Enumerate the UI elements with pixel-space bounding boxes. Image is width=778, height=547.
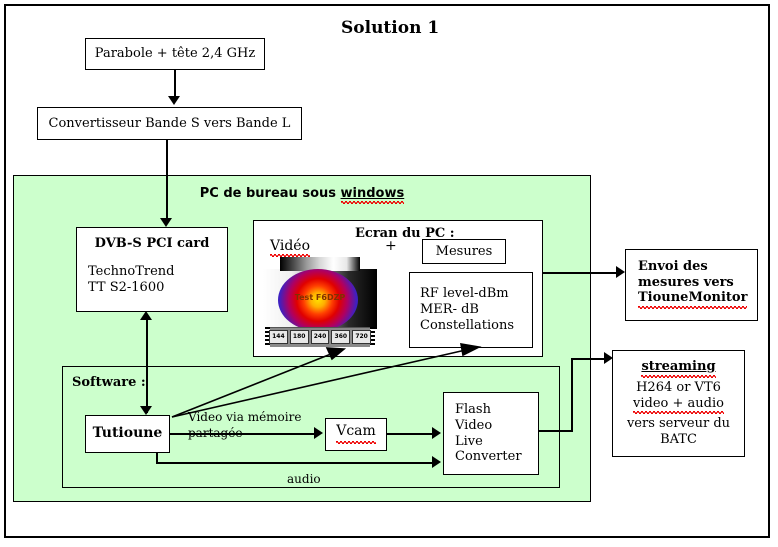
edge-label-video-memoire-1: Video via mémoire	[188, 410, 301, 424]
edge-label-audio: audio	[287, 472, 321, 486]
envoi-line2: mesures vers	[638, 275, 734, 291]
node-mesures[interactable]: Mesures	[422, 239, 506, 264]
envoi-line1: Envoi des	[638, 259, 708, 275]
arrowhead-dvbs-up	[140, 311, 152, 320]
connector-vcam-flash	[387, 433, 434, 435]
measurement-item-2: Constellations	[420, 318, 514, 334]
connector-flash-streaming-v	[571, 358, 573, 432]
test-pattern-resolution-cells: 144 180 240 360 720	[269, 330, 371, 344]
node-dvbs-pci-card[interactable]: DVB-S PCI card TechnoTrend TT S2-1600	[76, 227, 228, 312]
connector-convertisseur-dvbs	[166, 140, 168, 221]
pc-panel-title-text: PC de bureau sous	[200, 186, 341, 201]
resolution-cell: 144	[269, 330, 288, 344]
envoi-line3: TiouneMonitor	[638, 290, 747, 311]
flash-line-1: Video	[455, 418, 492, 434]
arrowhead-envoi-in	[616, 266, 625, 278]
page-title: Solution 1	[341, 18, 439, 38]
flash-line-2: Live	[455, 434, 483, 450]
node-tutioune[interactable]: Tutioune	[85, 415, 170, 453]
node-mesures-label: Mesures	[436, 244, 493, 260]
node-measurements-list[interactable]: RF level-dBm MER- dB Constellations	[409, 272, 533, 348]
connector-tutioune-vcam	[170, 433, 316, 435]
node-vcam-label: Vcam	[336, 423, 376, 445]
pc-panel-title-windows: windows	[341, 186, 405, 206]
node-streaming[interactable]: streaming H264 or VT6 video + audio vers…	[612, 350, 745, 457]
connector-audio-run	[156, 462, 434, 464]
node-convertisseur[interactable]: Convertisseur Bande S vers Bande L	[37, 107, 302, 140]
streaming-line1: H264 or VT6	[636, 380, 721, 396]
arrowhead-flash-in-audio	[432, 456, 441, 468]
resolution-cell: 240	[311, 330, 330, 344]
measurement-item-1: MER- dB	[420, 302, 479, 318]
resolution-cell: 360	[331, 330, 350, 344]
software-panel-label: Software :	[72, 375, 146, 390]
arrowhead-vcam-in	[314, 427, 323, 439]
flash-line-0: Flash	[455, 402, 491, 418]
streaming-line4: BATC	[660, 432, 697, 448]
streaming-title: streaming	[641, 359, 715, 380]
node-dvbs-line2: TT S2-1600	[88, 280, 164, 296]
connector-flash-streaming-h2	[571, 358, 608, 360]
node-dvbs-title: DVB-S PCI card	[77, 236, 227, 252]
arrowhead-streaming-in	[604, 352, 613, 364]
measurement-item-0: RF level-dBm	[420, 286, 509, 302]
connector-ecran-envoi	[543, 272, 621, 274]
resolution-cell: 720	[352, 330, 371, 344]
video-test-pattern-image: Test F6DZP 144 180 240 360 720	[263, 257, 377, 347]
node-parabole[interactable]: Parabole + tête 2,4 GHz	[85, 38, 265, 70]
arrowhead-convertisseur-in	[168, 96, 180, 105]
ecran-plus-sign: +	[385, 238, 397, 254]
streaming-line3: vers serveur du	[627, 416, 730, 432]
node-dvbs-line1: TechnoTrend	[88, 264, 174, 280]
arrowhead-tutioune-down	[140, 406, 152, 415]
arrowhead-dvbs-in	[160, 218, 172, 227]
node-tutioune-label: Tutioune	[93, 425, 163, 442]
streaming-line2: video + audio	[633, 396, 724, 417]
ecran-video-label: Vidéo	[270, 238, 310, 259]
node-parabole-label: Parabole + tête 2,4 GHz	[95, 46, 255, 62]
connector-parabole-convertisseur	[174, 70, 176, 98]
node-envoi-mesures[interactable]: Envoi des mesures vers TiouneMonitor	[625, 249, 758, 321]
node-convertisseur-label: Convertisseur Bande S vers Bande L	[49, 116, 291, 132]
flash-line-3: Converter	[455, 449, 522, 465]
connector-dvbs-tutioune	[146, 316, 148, 413]
connector-flash-streaming-h1	[539, 430, 573, 432]
node-flash-video-live-converter[interactable]: Flash Video Live Converter	[443, 392, 539, 475]
arrowhead-flash-in-video	[432, 427, 441, 439]
node-vcam[interactable]: Vcam	[325, 418, 387, 451]
test-pattern-callsign: Test F6DZP	[263, 293, 377, 302]
diagram-canvas: Solution 1 PC de bureau sous windows Sof…	[0, 0, 778, 547]
resolution-cell: 180	[290, 330, 309, 344]
pc-desktop-panel-title: PC de bureau sous windows	[13, 175, 591, 201]
